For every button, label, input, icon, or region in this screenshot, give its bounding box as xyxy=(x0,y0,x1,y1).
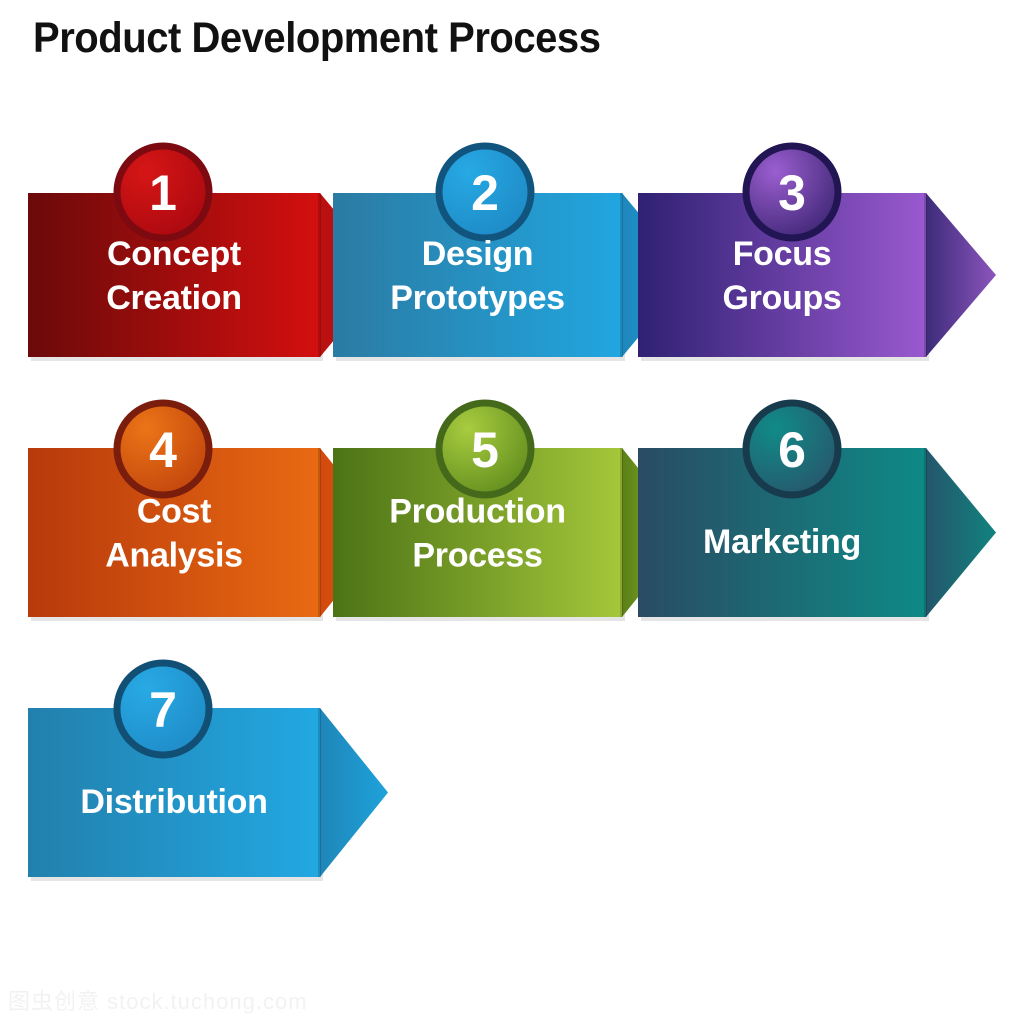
step-number: 7 xyxy=(149,682,177,738)
step-label-line: Groups xyxy=(722,279,841,317)
step-label-line: Prototypes xyxy=(390,279,565,317)
watermark: 图虫创意 stock.tuchong.com xyxy=(8,984,308,1016)
process-step-3[interactable]: 3FocusGroups xyxy=(638,146,996,361)
step-label-line: Distribution xyxy=(80,783,267,821)
step-arrow-head xyxy=(926,448,996,617)
process-flow-diagram: 1ConceptCreation2DesignPrototypes3FocusG… xyxy=(0,0,1024,1024)
step-number-badge[interactable]: 4 xyxy=(117,403,209,495)
step-number: 5 xyxy=(471,422,499,478)
step-number: 2 xyxy=(471,165,499,221)
step-label-line: Process xyxy=(412,537,542,575)
step-number-badge[interactable]: 1 xyxy=(117,146,209,238)
step-number: 3 xyxy=(778,165,806,221)
step-label-line: Cost xyxy=(137,493,211,531)
step-number: 6 xyxy=(778,422,806,478)
step-label-line: Production xyxy=(389,493,565,531)
step-label-line: Concept xyxy=(107,235,241,273)
step-arrow-head xyxy=(926,193,996,357)
step-number: 1 xyxy=(149,165,177,221)
step-label-line: Marketing xyxy=(703,523,861,561)
step-number-badge[interactable]: 2 xyxy=(439,146,531,238)
step-arrow-head xyxy=(320,708,388,877)
step-label-line: Analysis xyxy=(105,537,242,575)
step-number-badge[interactable]: 6 xyxy=(746,403,838,495)
step-number: 4 xyxy=(149,422,177,478)
process-step-7[interactable]: 7Distribution xyxy=(28,663,388,881)
process-step-2[interactable]: 2DesignPrototypes xyxy=(333,146,690,361)
process-step-5[interactable]: 5ProductionProcess xyxy=(333,403,690,621)
step-number-badge[interactable]: 3 xyxy=(746,146,838,238)
step-label-line: Creation xyxy=(106,279,242,317)
process-step-6[interactable]: 6Marketing xyxy=(638,403,996,621)
step-number-badge[interactable]: 5 xyxy=(439,403,531,495)
step-label-line: Design xyxy=(422,235,534,273)
step-number-badge[interactable]: 7 xyxy=(117,663,209,755)
step-label-line: Focus xyxy=(733,235,832,273)
